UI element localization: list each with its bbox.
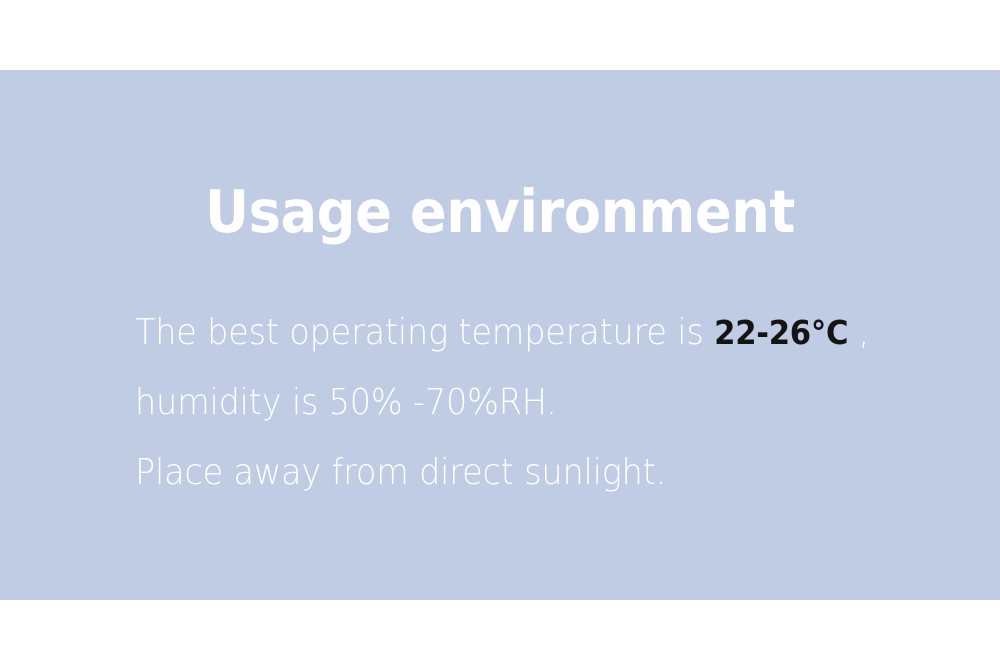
temperature-range-value: 22-26°C <box>714 313 848 352</box>
body-line-temperature: The best operating temperature is 22-26°… <box>135 298 879 368</box>
temperature-label-prefix: The best operating temperature is <box>135 312 714 353</box>
info-panel: Usage environment The best operating tem… <box>0 70 1000 600</box>
temperature-label-suffix: , <box>848 312 869 353</box>
body-text-block: The best operating temperature is 22-26°… <box>135 298 935 508</box>
body-line-sunlight: Place away from direct sunlight. <box>135 438 879 508</box>
body-line-humidity: humidity is 50% -70%RH. <box>135 368 879 438</box>
bottom-white-margin <box>0 600 1000 652</box>
usage-environment-banner: Usage environment The best operating tem… <box>0 0 1000 652</box>
page-title: Usage environment <box>40 182 960 241</box>
top-white-margin <box>0 0 1000 70</box>
